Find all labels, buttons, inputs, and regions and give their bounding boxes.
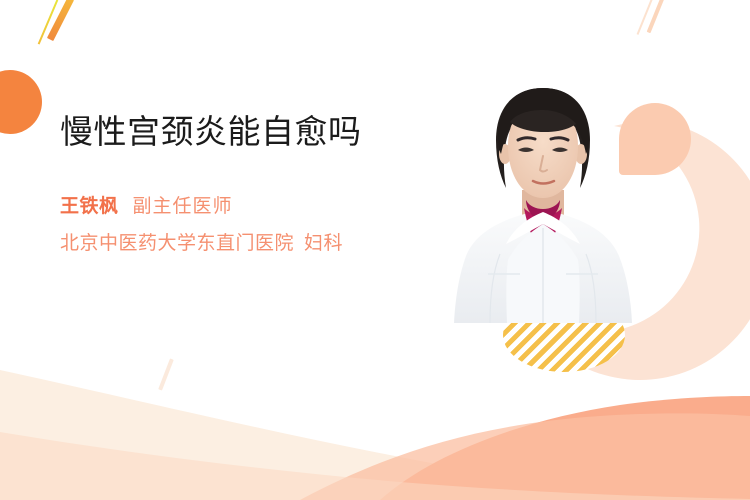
- department-name: 妇科: [304, 233, 343, 254]
- page-title: 慢性宫颈炎能自愈吗: [60, 110, 420, 153]
- stroke-faint-decoration: [158, 358, 174, 390]
- doctor-title: 副主任医师: [133, 196, 233, 217]
- doctor-byline: 王铁枫副主任医师: [60, 191, 420, 218]
- wave-mid-left: [0, 432, 750, 500]
- doctor-affiliation: 北京中医药大学东直门医院妇科: [60, 228, 420, 255]
- wave-salmon-right-inner: [300, 413, 750, 500]
- text-block: 慢性宫颈炎能自愈吗 王铁枫副主任医师 北京中医药大学东直门医院妇科: [60, 110, 420, 255]
- doctor-name: 王铁枫: [60, 196, 119, 217]
- hospital-name: 北京中医药大学东直门医院: [60, 233, 294, 254]
- video-cover-card: 慢性宫颈炎能自愈吗 王铁枫副主任医师 北京中医药大学东直门医院妇科: [0, 0, 750, 500]
- stroke-orange-decoration: [47, 0, 74, 41]
- wave-light-left: [0, 370, 750, 500]
- doctor-portrait: [448, 78, 638, 323]
- circle-orange-decoration: [0, 70, 42, 134]
- wave-salmon-right: [380, 396, 750, 500]
